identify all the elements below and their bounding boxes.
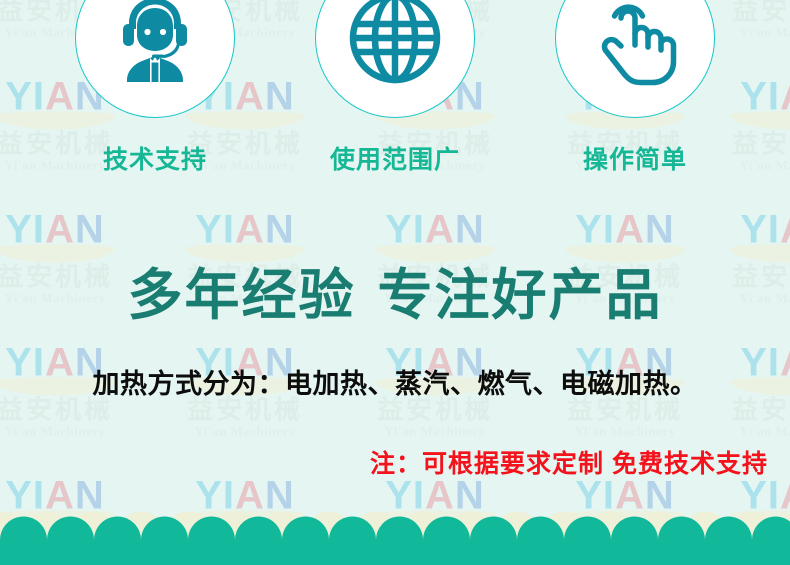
headset-support-icon [107, 0, 203, 86]
subtitle: 加热方式分为：电加热、蒸汽、燃气、电磁加热。 [0, 362, 790, 401]
feature-label: 使用范围广 [330, 140, 460, 176]
tap-hand-icon [585, 0, 685, 88]
feature-icon-circle [315, 0, 475, 118]
feature-icon-circle [555, 0, 715, 118]
feature-label: 技术支持 [103, 140, 207, 176]
feature-list: 技术支持 [0, 0, 790, 176]
feature-icon-circle [75, 0, 235, 118]
wave-front-shape [0, 517, 790, 565]
banner-content: 技术支持 [0, 0, 790, 565]
note-text: 注：可根据要求定制 免费技术支持 [370, 444, 768, 480]
feature-item-usage-range[interactable]: 使用范围广 [295, 0, 495, 176]
headline-part-1: 多年经验 [127, 264, 355, 326]
headline: 多年经验专注好产品 [0, 265, 790, 326]
feature-item-simple-operation[interactable]: 操作简单 [535, 0, 735, 176]
feature-item-technical-support[interactable]: 技术支持 [55, 0, 255, 176]
feature-label: 操作简单 [583, 140, 687, 176]
product-feature-banner: YIAN益安机械Yi'an MachineryYIAN益安机械Yi'an Mac… [0, 0, 790, 565]
headline-part-2: 专注好产品 [378, 264, 663, 326]
wave-decoration [0, 505, 790, 565]
globe-icon [343, 0, 447, 90]
